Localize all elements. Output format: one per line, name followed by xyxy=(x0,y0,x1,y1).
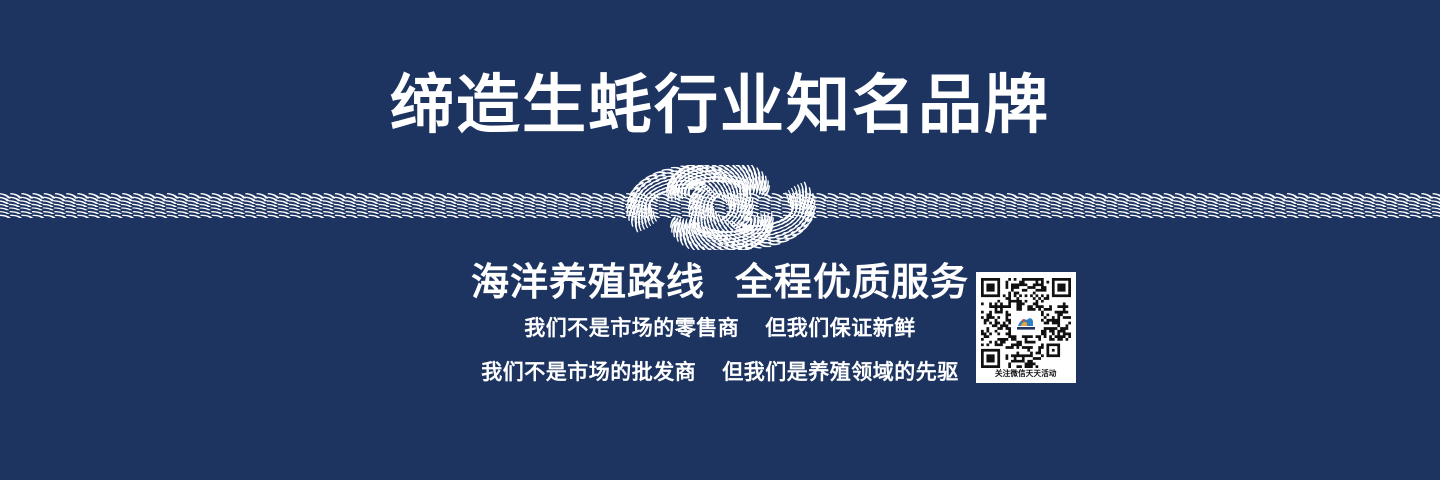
rope-knot-icon xyxy=(0,165,1440,250)
tagline-1-left: 我们不是市场的零售商 xyxy=(524,316,739,340)
brand-logo-icon xyxy=(1014,314,1038,332)
subheadline: 海洋养殖路线全程优质服务 xyxy=(0,258,1440,306)
rope-knot-shape xyxy=(626,165,817,250)
tagline-1-right: 但我们保证新鲜 xyxy=(765,316,916,340)
promo-banner: 缔造生蚝行业知名品牌 xyxy=(0,0,1440,480)
qr-center-logo xyxy=(1012,312,1040,334)
tagline-1: 我们不是市场的零售商但我们保证新鲜 xyxy=(0,306,1440,350)
rope-divider xyxy=(0,165,1440,250)
page-title: 缔造生蚝行业知名品牌 xyxy=(0,70,1440,142)
qr-caption: 关注微信天天活动 xyxy=(995,368,1057,380)
tagline-2: 我们不是市场的批发商但我们是养殖领域的先驱 xyxy=(0,350,1440,394)
tagline-2-left: 我们不是市场的批发商 xyxy=(481,360,696,384)
qr-code-image[interactable] xyxy=(981,278,1071,368)
subheadline-right: 全程优质服务 xyxy=(735,260,969,304)
tagline-2-right: 但我们是养殖领域的先驱 xyxy=(722,360,959,384)
qr-card[interactable]: 关注微信天天活动 xyxy=(976,272,1076,383)
copy-block: 海洋养殖路线全程优质服务 我们不是市场的零售商但我们保证新鲜 我们不是市场的批发… xyxy=(0,258,1440,394)
subheadline-left: 海洋养殖路线 xyxy=(471,260,705,304)
